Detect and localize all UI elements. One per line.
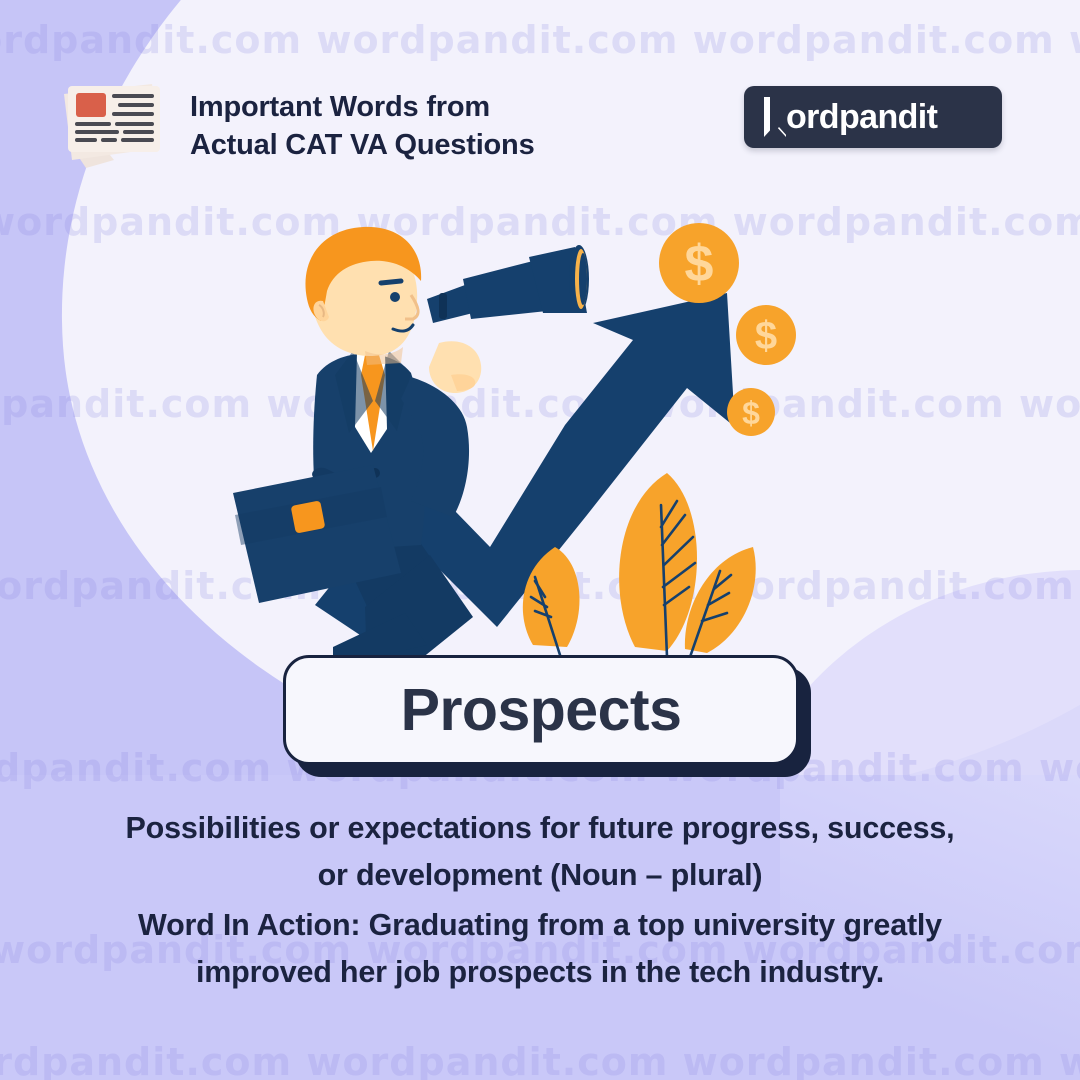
page-title: Important Words from Actual CAT VA Quest… <box>190 88 535 165</box>
header: Important Words from Actual CAT VA Quest… <box>0 0 1080 190</box>
telescope-icon <box>427 245 589 323</box>
svg-text:$: $ <box>755 314 777 358</box>
svg-text:$: $ <box>685 235 714 293</box>
bookmark-w-icon <box>762 95 788 139</box>
page-title-line-2: Actual CAT VA Questions <box>190 126 535 164</box>
word-card-body[interactable]: Prospects <box>283 655 799 765</box>
word-card: Prospects <box>283 655 799 765</box>
word-in-action-line-1: Word In Action: Graduating from a top un… <box>40 902 1040 949</box>
word-in-action-paragraph: Word In Action: Graduating from a top un… <box>40 902 1040 997</box>
wordpandit-logo[interactable]: ordpandit <box>744 86 1002 148</box>
word-in-action-line-2: improved her job prospects in the tech i… <box>40 949 1040 996</box>
page-title-line-1: Important Words from <box>190 88 535 126</box>
definition-line-1: Possibilities or expectations for future… <box>40 805 1040 852</box>
definition-block: Possibilities or expectations for future… <box>40 805 1040 996</box>
svg-text:$: $ <box>742 395 760 431</box>
poster-canvas: wordpandit.com wordpandit.com wordpandit… <box>0 0 1080 1080</box>
dollar-coin-large: $ <box>659 223 739 303</box>
word-text: Prospects <box>401 676 682 744</box>
businessman-telescope-illustration: $ $ $ <box>215 215 855 685</box>
definition-paragraph: Possibilities or expectations for future… <box>40 805 1040 900</box>
dollar-coin-small: $ <box>727 388 775 436</box>
definition-line-2: or development (Noun – plural) <box>40 852 1040 899</box>
logo-text: ordpandit <box>786 100 937 134</box>
dollar-coin-medium: $ <box>736 305 796 365</box>
newspaper-icon <box>56 72 174 172</box>
